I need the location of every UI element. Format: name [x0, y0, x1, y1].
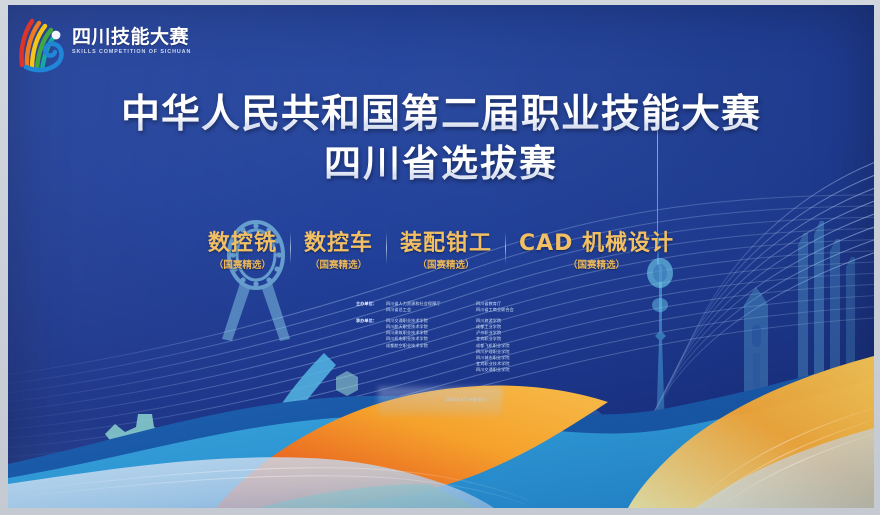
title-line-2: 四川省选拔赛	[8, 141, 874, 187]
rainbow-flame-person-logo	[16, 15, 70, 73]
logo-name-en: SKILLS COMPETITION OF SICHUAN	[72, 49, 196, 55]
host-column-1: 四川省人力资源和社会保障厅 四川省总工会	[386, 301, 476, 313]
category-name: CAD 机械设计	[519, 230, 674, 257]
logo-name-cn: 四川技能大赛	[72, 27, 196, 47]
category-item-3: CAD 机械设计 （国赛精选）	[506, 230, 687, 273]
host-group: 主办单位： 四川省人力资源和社会保障厅 四川省总工会 四川省教育厅 四川省工商业…	[356, 301, 566, 313]
category-sublabel: （国赛精选）	[519, 259, 674, 273]
category-sublabel: （国赛精选）	[304, 259, 373, 273]
category-sublabel: （国赛精选）	[208, 259, 277, 273]
host-column-2: 四川省教育厅 四川省工商业联合会	[476, 301, 566, 313]
screenshot-root: 四川技能大赛 SKILLS COMPETITION OF SICHUAN 中华人…	[0, 0, 880, 515]
organizer-entry: 成都航空职业技术学院	[386, 343, 476, 349]
host-label: 主办单位：	[356, 301, 386, 313]
competition-logo: 四川技能大赛 SKILLS COMPETITION OF SICHUAN	[16, 15, 196, 81]
credits-block: 主办单位： 四川省人力资源和社会保障厅 四川省总工会 四川省教育厅 四川省工商业…	[356, 301, 566, 403]
event-backdrop-board: 四川技能大赛 SKILLS COMPETITION OF SICHUAN 中华人…	[8, 5, 874, 508]
organizer-column-1: 四川交通职业技术学院 四川航天职业技术学院 四川建筑职业技术学院 四川机电职业技…	[386, 318, 476, 373]
organizer-group: 承办单位： 四川交通职业技术学院 四川航天职业技术学院 四川建筑职业技术学院 四…	[356, 318, 566, 373]
host-entry: 四川省工商业联合会	[476, 307, 566, 313]
logo-text: 四川技能大赛 SKILLS COMPETITION OF SICHUAN	[72, 27, 196, 55]
category-item-2: 装配钳工 （国赛精选）	[387, 230, 505, 273]
date-location-line: 2023年3月 中国·四川	[356, 397, 566, 403]
organizer-label: 承办单位：	[356, 318, 386, 373]
category-name: 数控车	[304, 230, 373, 257]
category-list: 数控铣 （国赛精选） 数控车 （国赛精选） 装配钳工 （国赛精选） CAD 机械…	[8, 230, 874, 273]
category-sublabel: （国赛精选）	[400, 259, 492, 273]
category-name: 装配钳工	[400, 230, 492, 257]
category-item-1: 数控车 （国赛精选）	[291, 230, 386, 273]
category-name: 数控铣	[208, 230, 277, 257]
host-entry: 四川省总工会	[386, 307, 476, 313]
title-line-1: 中华人民共和国第二届职业技能大赛	[8, 91, 874, 138]
organizer-column-2: 四川旅游学院 成都工业学院 泸州职业学院 宜宾职业学院 成都飞机职业学院 四川护…	[476, 318, 566, 373]
organizer-entry: 四川交通职业学院	[476, 367, 566, 373]
category-item-0: 数控铣 （国赛精选）	[195, 230, 290, 273]
page-title: 中华人民共和国第二届职业技能大赛 四川省选拔赛	[8, 91, 874, 187]
